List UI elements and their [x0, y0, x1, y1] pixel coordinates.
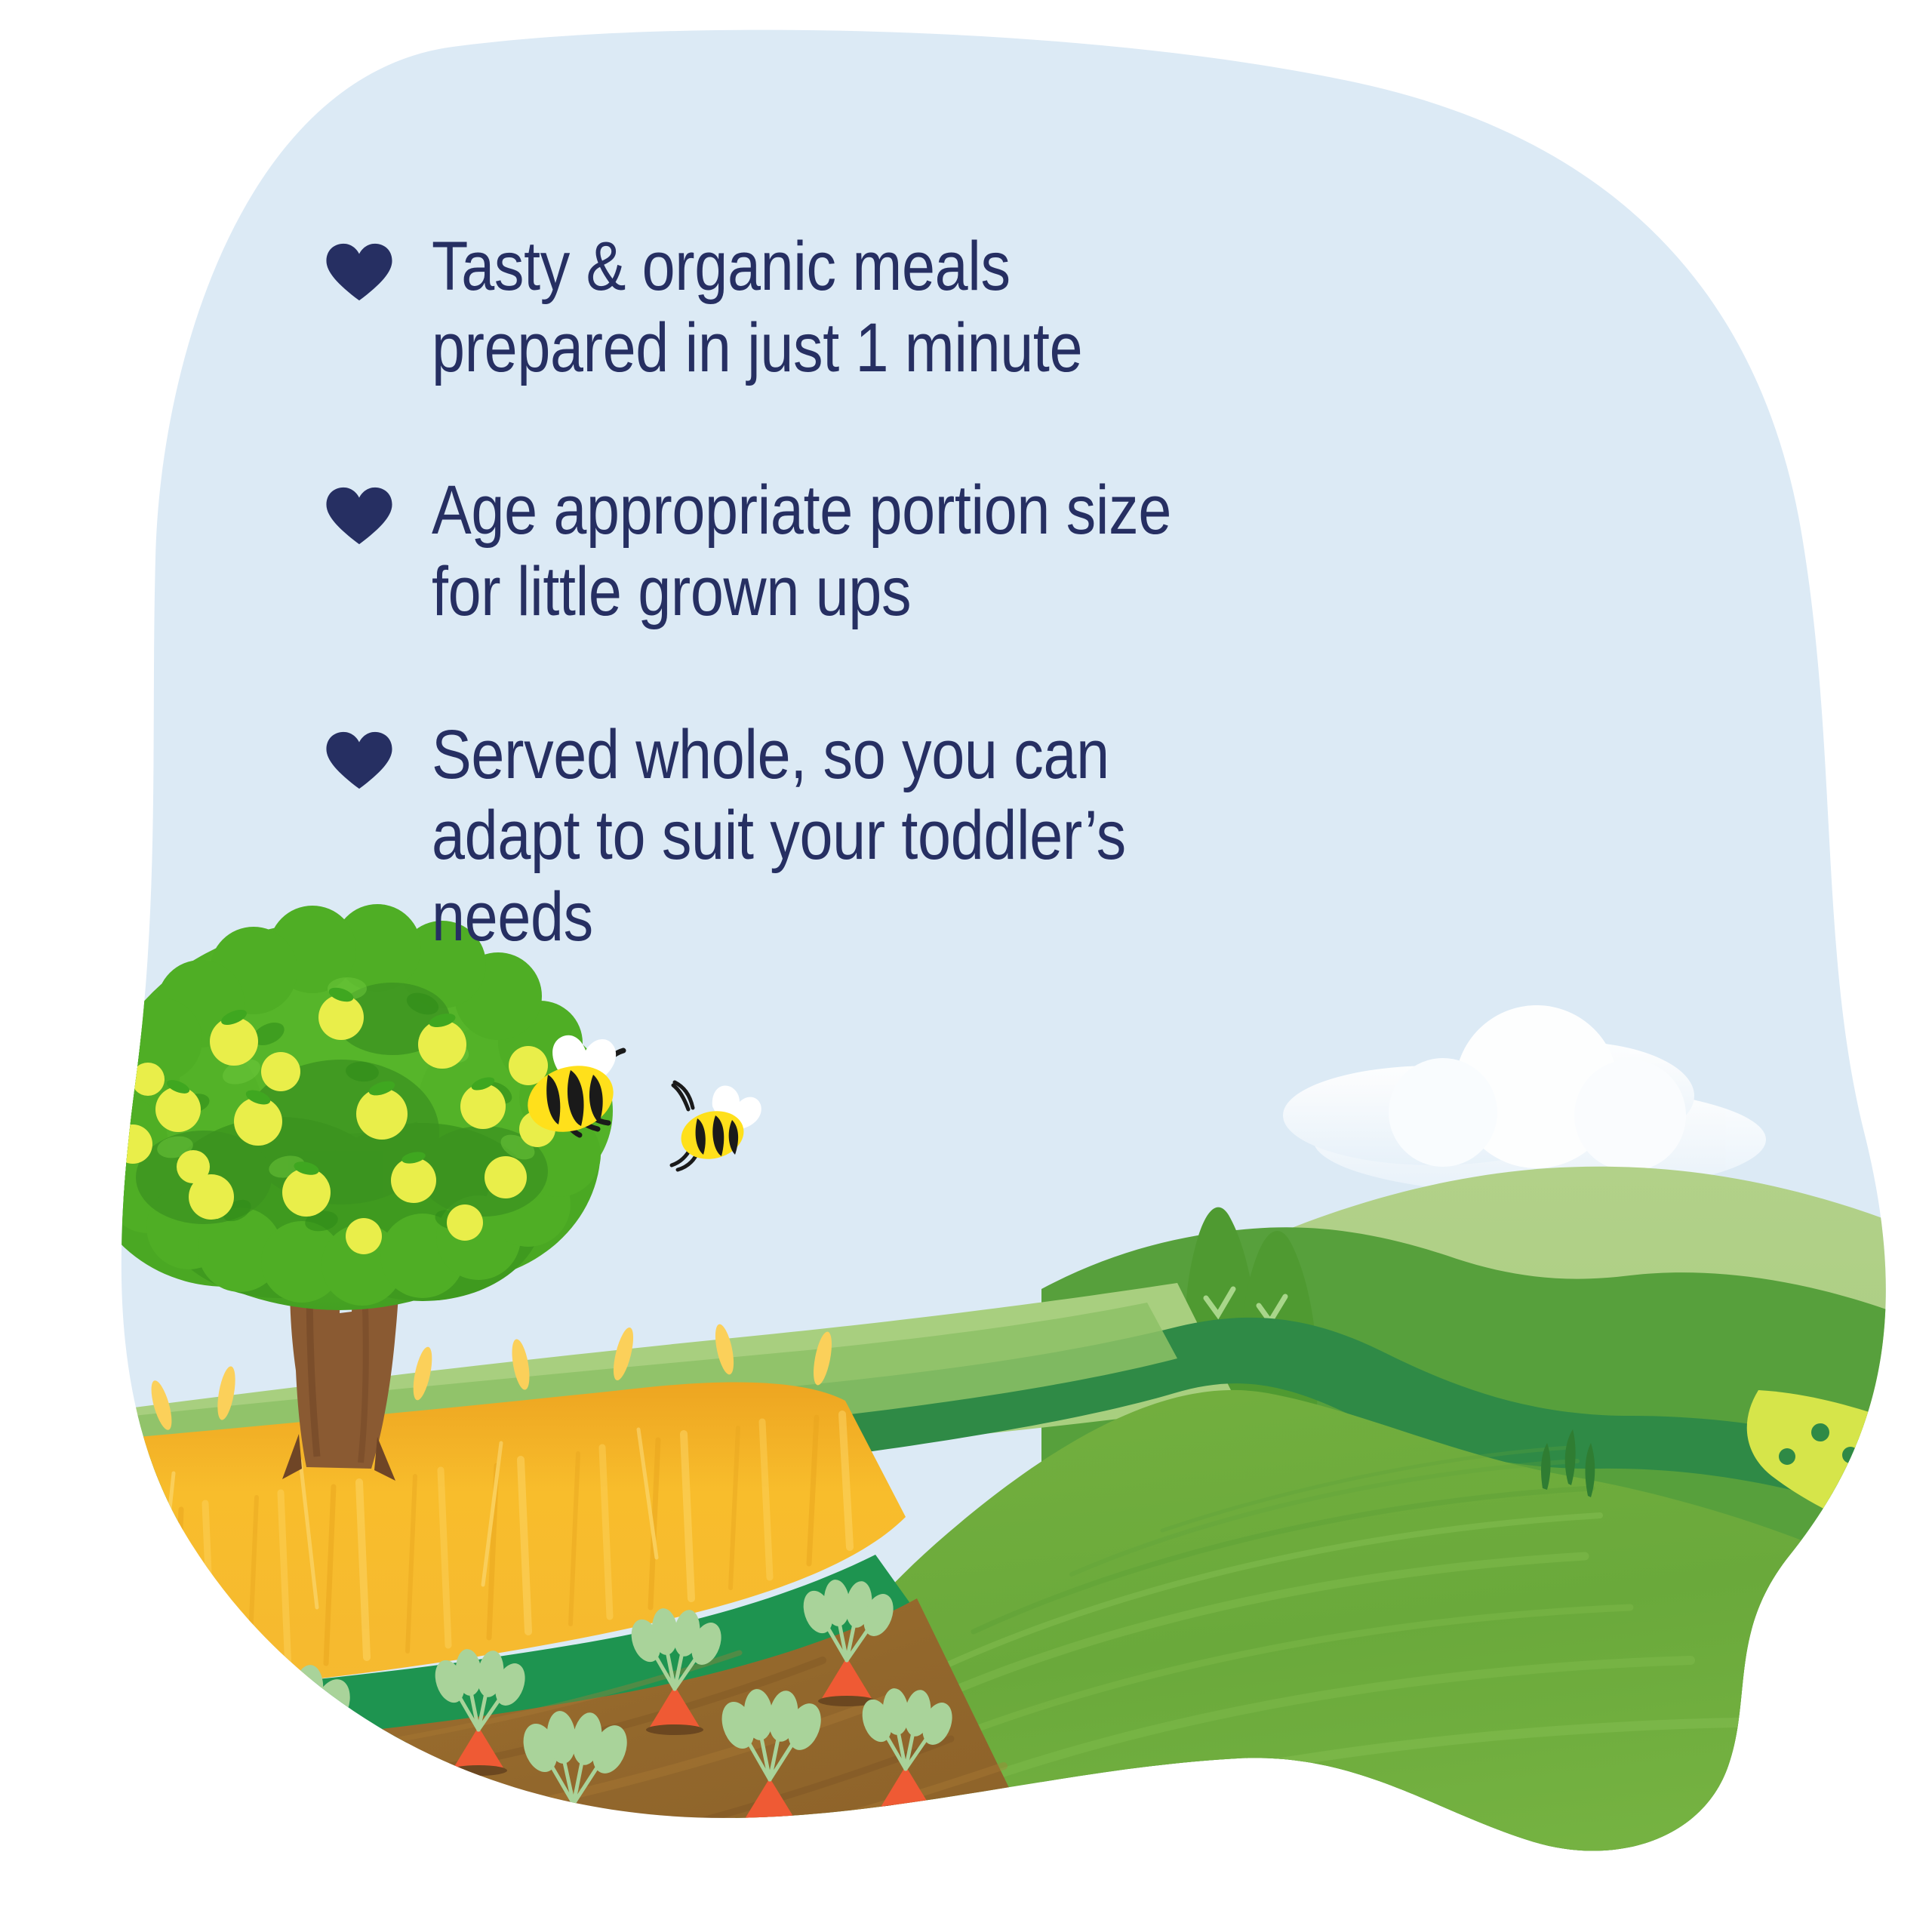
carrot-plant: [506, 1807, 600, 1927]
benefit-item-2: Age appropriate portion size for little …: [325, 470, 1351, 632]
benefits-card: Tasty & organic meals prepared in just 1…: [0, 0, 1932, 1932]
benefit-text-3: Served whole, so you can adapt to suit y…: [432, 715, 1222, 958]
benefit-item-1: Tasty & organic meals prepared in just 1…: [325, 226, 1351, 389]
benefit-text-1: Tasty & organic meals prepared in just 1…: [432, 226, 1222, 389]
field-dot: [1842, 1447, 1859, 1463]
carrot-plant: [236, 1662, 357, 1819]
carrot-plant: [297, 1760, 385, 1870]
field-dot: [1811, 1423, 1829, 1441]
heart-icon: [325, 243, 394, 302]
benefit-text-2: Age appropriate portion size for little …: [432, 470, 1222, 632]
benefits-list: Tasty & organic meals prepared in just 1…: [325, 226, 1351, 1039]
carrot-plant: [710, 1820, 804, 1932]
carrot-plant: [352, 1770, 457, 1904]
heart-icon: [325, 487, 394, 546]
benefit-item-3: Served whole, so you can adapt to suit y…: [325, 715, 1351, 958]
heart-icon: [325, 731, 394, 790]
field-dot: [1779, 1448, 1795, 1465]
